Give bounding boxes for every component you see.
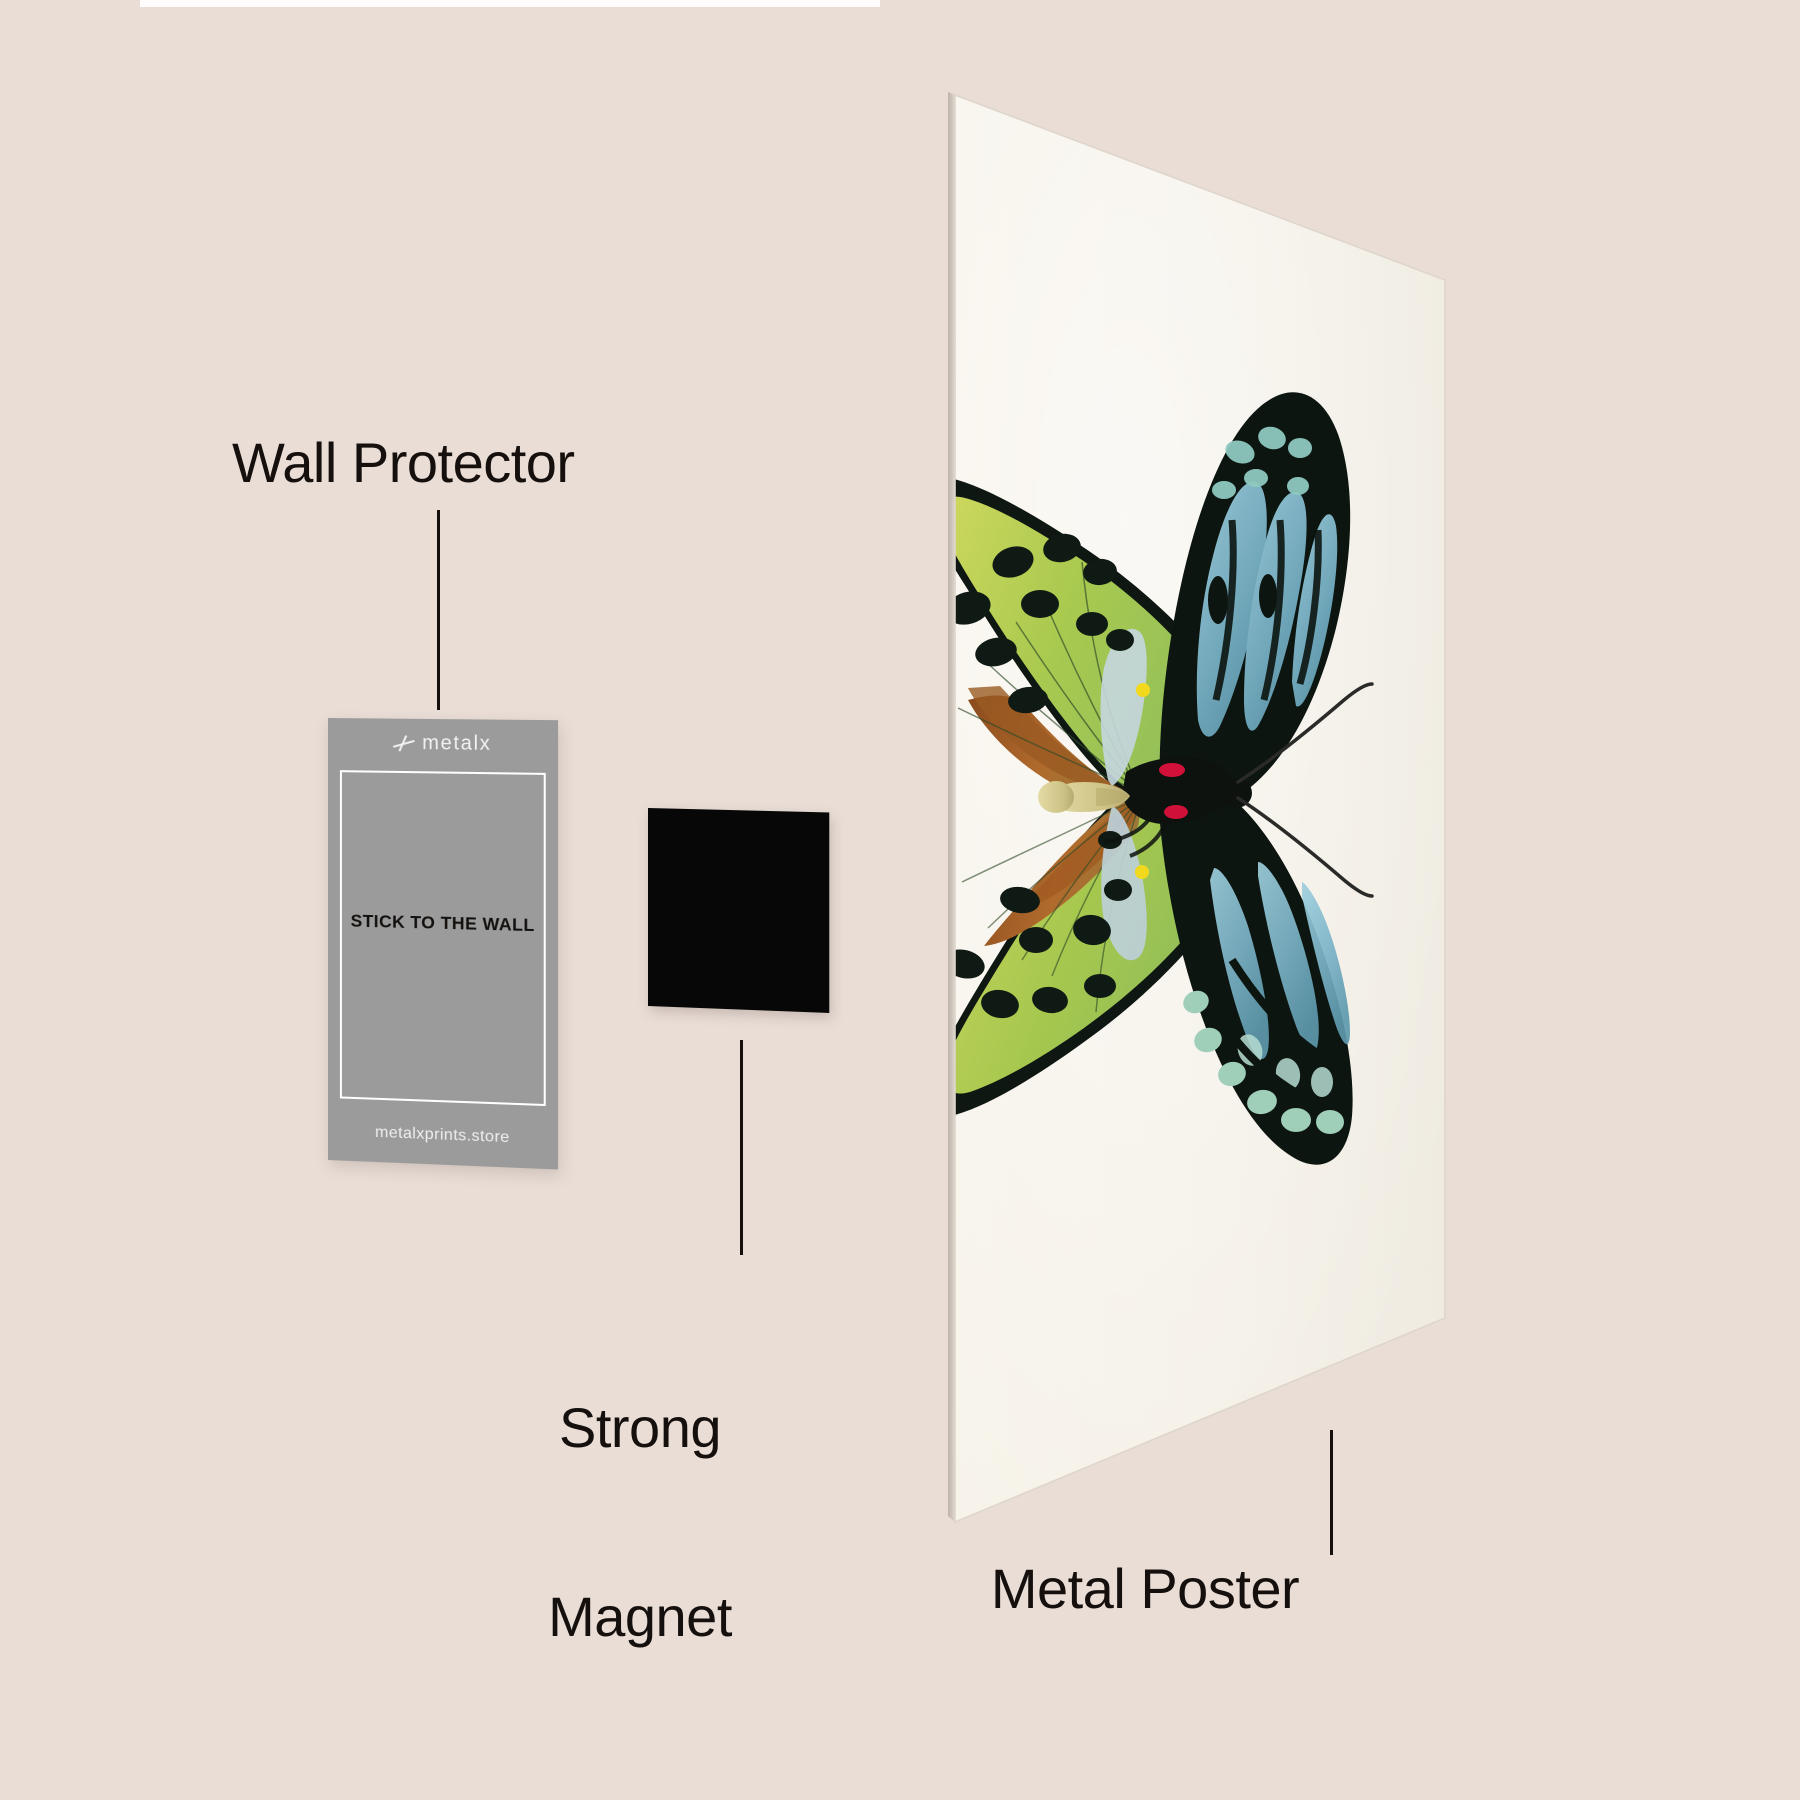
forewing-spots — [941, 530, 1134, 715]
butterfly-artwork — [921, 392, 1372, 1164]
wall-protector-card: metalx STICK TO THE WALL metalxprints.st… — [328, 718, 558, 1170]
red-marking-lower — [1164, 805, 1188, 819]
label-metal-poster: Metal Poster — [991, 1558, 1299, 1621]
top-white-band — [140, 0, 880, 7]
upper-left-forewing — [921, 477, 1251, 810]
antennae — [1238, 684, 1372, 896]
lower-left-forewing — [928, 786, 1247, 1116]
poster-face — [955, 95, 1445, 1522]
label-strong-magnet: Strong Magnet — [548, 1272, 732, 1774]
product-infographic: metalx STICK TO THE WALL metalxprints.st… — [0, 0, 1800, 1800]
label-strong-magnet-line2: Magnet — [548, 1586, 732, 1649]
yellow-accent-spot-lower — [1135, 865, 1149, 879]
upper-right-wing — [1160, 392, 1351, 806]
metal-poster — [0, 0, 1800, 1800]
lower-right-wing — [1158, 775, 1353, 1165]
card-inner-border — [340, 770, 546, 1106]
metalx-logo: metalx — [328, 731, 558, 757]
poster-left-edge — [948, 92, 955, 1522]
leader-line-metal-poster — [1330, 1430, 1333, 1555]
leader-line-wall-protector — [437, 510, 440, 710]
label-wall-protector: Wall Protector — [232, 432, 575, 495]
butterfly-body — [1038, 757, 1252, 856]
metalx-cross-icon — [393, 735, 415, 751]
metalx-wordmark: metalx — [422, 732, 491, 755]
strong-magnet-square — [648, 808, 829, 1013]
card-url: metalxprints.store — [328, 1122, 558, 1149]
label-strong-magnet-line1: Strong — [548, 1397, 732, 1460]
yellow-accent-spot — [1136, 683, 1150, 697]
leader-line-strong-magnet — [740, 1040, 743, 1255]
red-marking-upper — [1159, 763, 1185, 777]
